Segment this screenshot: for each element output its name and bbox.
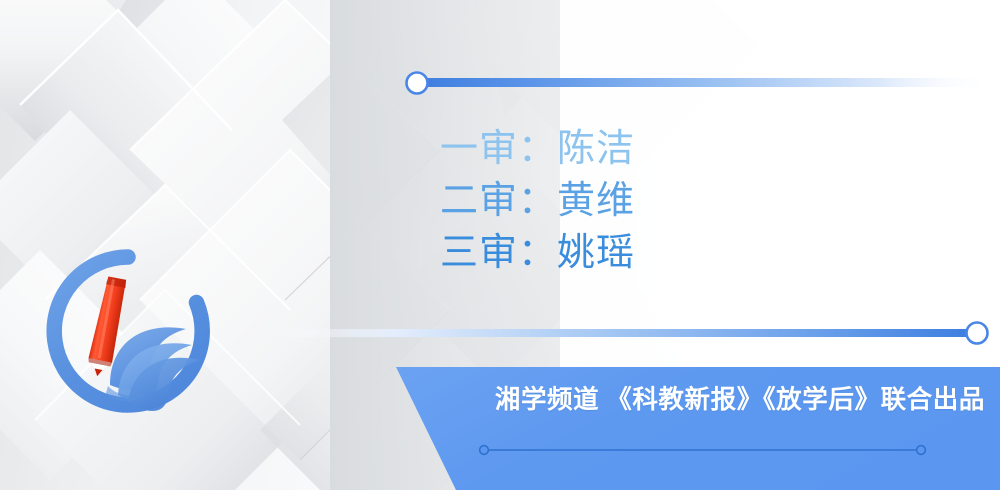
credit-row-first-review: 一审：陈洁 xyxy=(440,122,740,174)
credit-row-third-review: 三审：姚瑶 xyxy=(440,226,740,278)
credits-card: 湘学频道 《科教新报》《放学后》联合出品 一审：陈洁 二审：黄维 三审：姚瑶 xyxy=(0,0,1000,490)
xiangxue-channel-logo-icon xyxy=(40,243,216,419)
credit-row-second-review: 二审：黄维 xyxy=(440,174,740,226)
credits-block: 一审：陈洁 二审：黄维 三审：姚瑶 xyxy=(440,122,740,278)
banner-title: 湘学频道 《科教新报》《放学后》联合出品 xyxy=(430,373,985,421)
